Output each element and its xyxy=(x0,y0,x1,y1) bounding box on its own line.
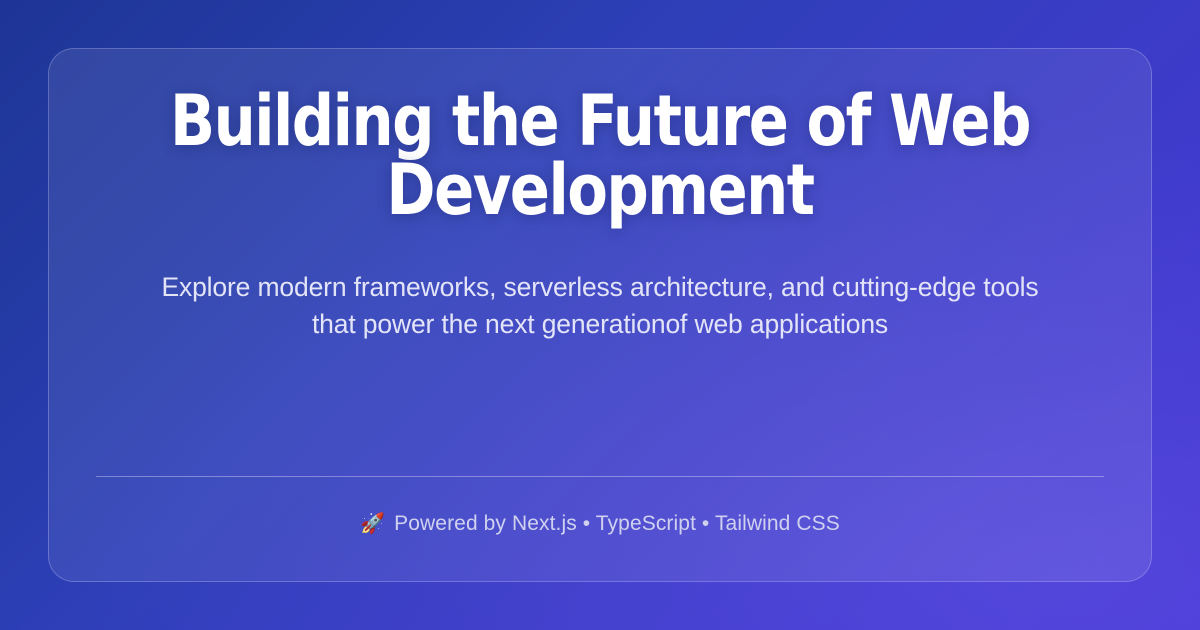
card-footer: 🚀 Powered by Next.js • TypeScript • Tail… xyxy=(105,476,1095,581)
footer-divider xyxy=(96,476,1104,477)
hero-card: Building the Future of Web Development E… xyxy=(48,48,1152,582)
rocket-emoji: 🚀 xyxy=(360,513,385,533)
tech-stack-credit-label: Powered by Next.js • TypeScript • Tailwi… xyxy=(394,511,840,537)
page-subtitle: Explore modern frameworks, serverless ar… xyxy=(160,269,1040,343)
page-title: Building the Future of Web Development xyxy=(135,87,1066,225)
tech-stack-credit: 🚀 Powered by Next.js • TypeScript • Tail… xyxy=(360,511,840,537)
og-image-canvas: Building the Future of Web Development E… xyxy=(0,0,1200,630)
